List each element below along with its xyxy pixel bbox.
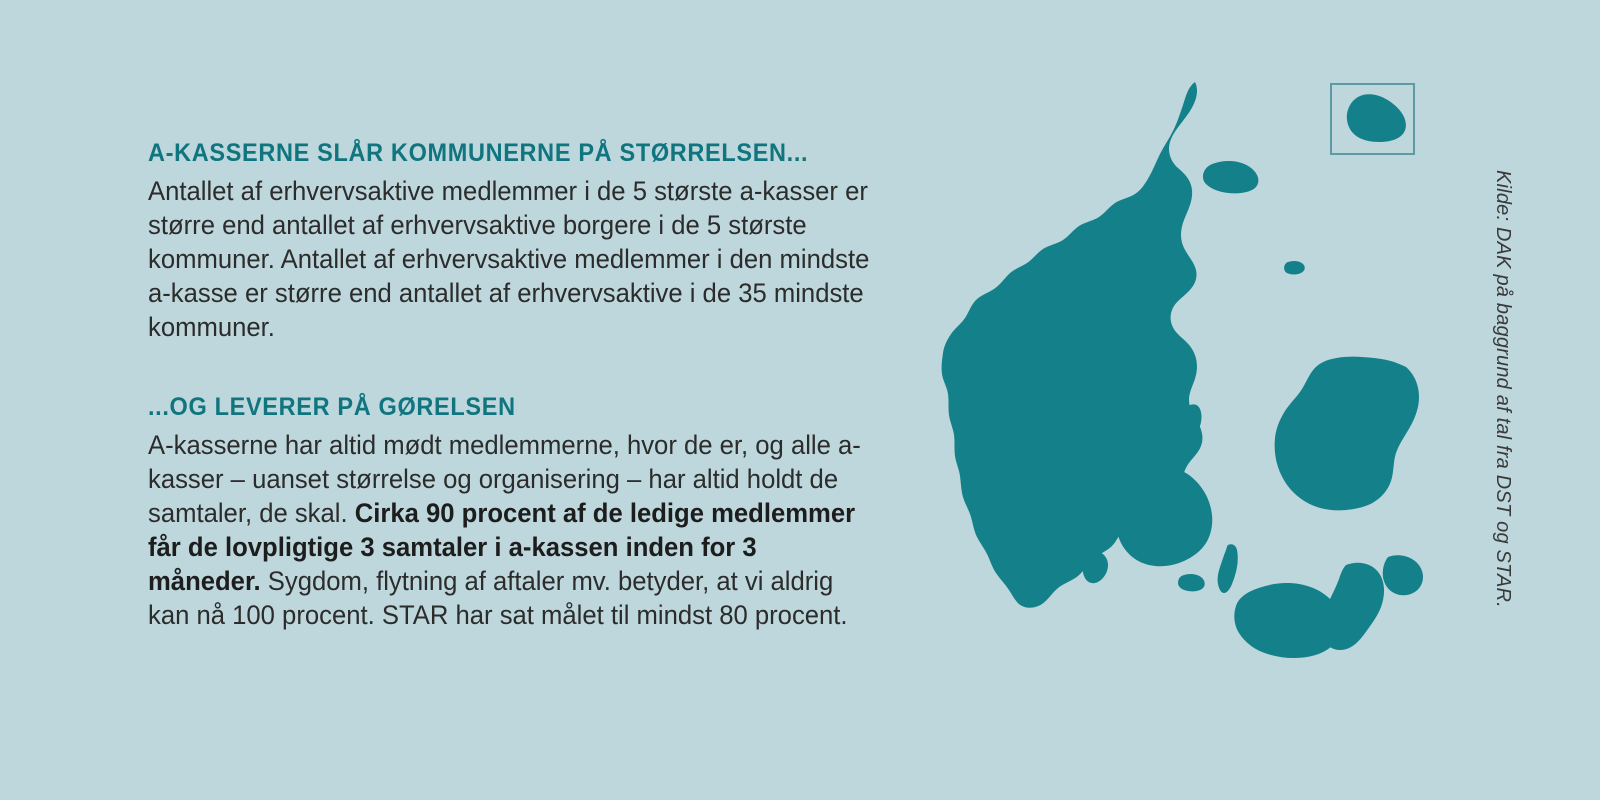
- region-falster: [1321, 563, 1384, 650]
- infographic-canvas: A-KASSERNE SLÅR KOMMUNERNE PÅ STØRRELSEN…: [0, 0, 1600, 800]
- region-moen: [1383, 555, 1423, 595]
- block-2-body: A-kasserne har altid mødt medlemmerne, h…: [148, 428, 870, 632]
- island-laesoe: [1203, 161, 1258, 193]
- region-zealand: [1275, 357, 1419, 511]
- region-als: [1083, 551, 1108, 583]
- block-2-heading: ...OG LEVERER PÅ GØRELSEN: [148, 392, 862, 422]
- island-anholt: [1284, 261, 1305, 275]
- text-block-size: A-KASSERNE SLÅR KOMMUNERNE PÅ STØRRELSEN…: [148, 138, 908, 344]
- text-column: A-KASSERNE SLÅR KOMMUNERNE PÅ STØRRELSEN…: [148, 138, 908, 632]
- denmark-map: [888, 70, 1468, 710]
- region-langeland: [1218, 544, 1238, 593]
- island-bornholm: [1347, 94, 1406, 142]
- block-1-heading: A-KASSERNE SLÅR KOMMUNERNE PÅ STØRRELSEN…: [148, 138, 862, 168]
- block-1-body: Antallet af erhvervsaktive medlemmer i d…: [148, 174, 870, 344]
- region-aeroe: [1178, 574, 1205, 591]
- denmark-map-svg: [888, 70, 1468, 710]
- text-block-delivery: ...OG LEVERER PÅ GØRELSEN A-kasserne har…: [148, 392, 908, 632]
- source-credit: Kilde: DAK på baggrund af tal fra DST og…: [1486, 170, 1520, 610]
